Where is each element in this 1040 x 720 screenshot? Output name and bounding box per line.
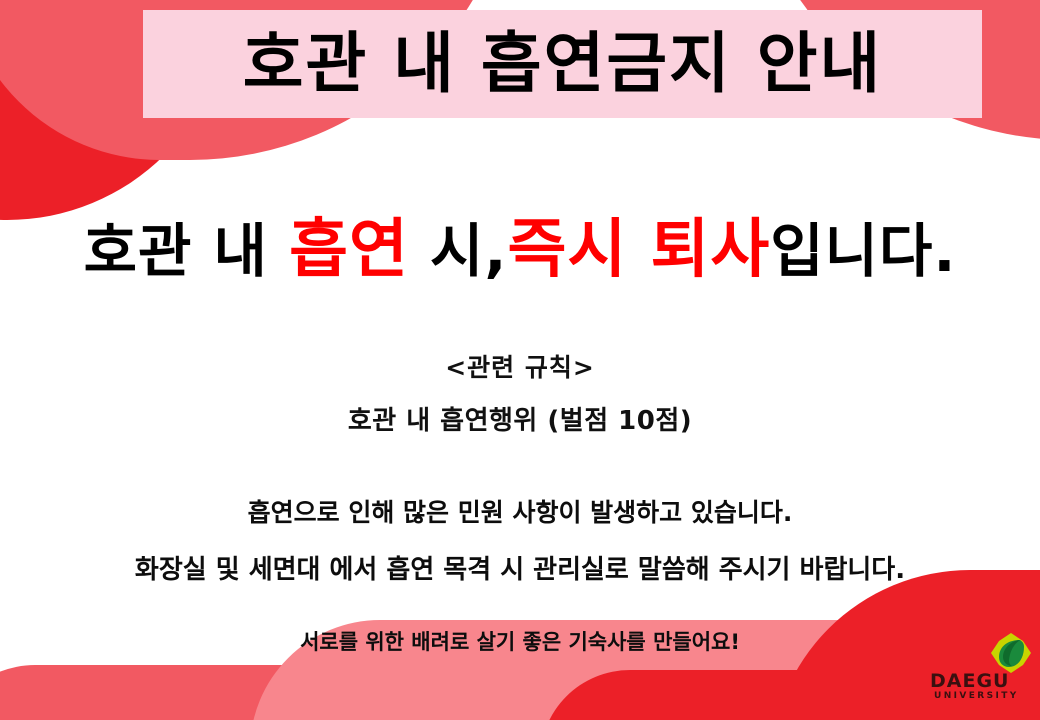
body-line-2: 화장실 및 세면대 에서 흡연 목격 시 관리실로 말씀해 주시기 바랍니다. xyxy=(0,557,1040,583)
headline-segment-black-3: 입니다. xyxy=(770,217,956,285)
page-title: 호관 내 흡연금지 안내 xyxy=(243,31,882,97)
rules-section: <관련 규칙> 호관 내 흡연행위 (벌점 10점) xyxy=(0,355,1040,434)
headline: 호관 내 흡연 시,즉시 퇴사입니다. xyxy=(0,218,1040,282)
rules-detail-line: 호관 내 흡연행위 (벌점 10점) xyxy=(0,408,1040,434)
title-banner: 호관 내 흡연금지 안내 xyxy=(143,10,982,118)
logo-name: DAEGU xyxy=(930,672,1009,691)
body-line-1: 흡연으로 인해 많은 민원 사항이 발생하고 있습니다. xyxy=(0,500,1040,525)
closing-section: 서로를 위한 배려로 살기 좋은 기숙사를 만들어요! xyxy=(0,632,1040,653)
headline-segment-red-smoking: 흡연 xyxy=(289,213,409,287)
headline-segment-black-2: 시, xyxy=(409,217,508,285)
daegu-leaf-emblem-icon xyxy=(990,632,1032,674)
decoration-bottom-salmon-band xyxy=(0,665,1040,720)
body-section: 흡연으로 인해 많은 민원 사항이 발생하고 있습니다. 화장실 및 세면대 에… xyxy=(0,500,1040,583)
rules-heading: <관련 규칙> xyxy=(0,355,1040,380)
headline-segment-black-1: 호관 내 xyxy=(84,217,289,285)
headline-segment-red-expulsion: 즉시 퇴사 xyxy=(507,213,770,287)
logo-subtitle: UNIVERSITY xyxy=(934,692,1019,701)
daegu-university-logo: DAEGU UNIVERSITY xyxy=(922,632,1034,712)
closing-message: 서로를 위한 배려로 살기 좋은 기숙사를 만들어요! xyxy=(300,630,740,654)
poster-canvas: 호관 내 흡연금지 안내 호관 내 흡연 시,즉시 퇴사입니다. <관련 규칙>… xyxy=(0,0,1040,720)
